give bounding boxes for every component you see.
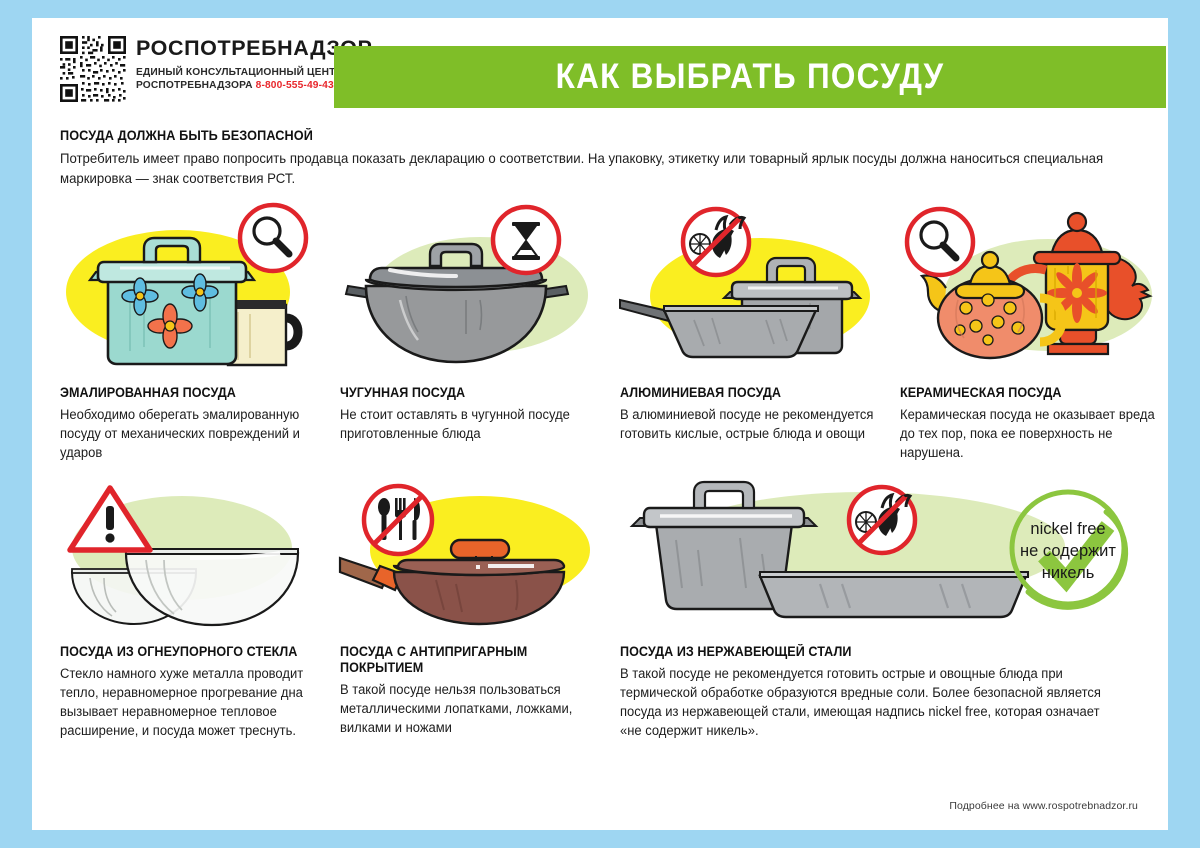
brand-block: РОСПОТРЕБНАДЗОР ЕДИНЫЙ КОНСУЛЬТАЦИОННЫЙ …	[60, 36, 372, 102]
no-spicy-food-icon	[683, 209, 749, 275]
cast-iron-illustration	[340, 200, 608, 375]
non-stick-illustration	[340, 480, 608, 630]
aluminium-illustration	[620, 200, 888, 375]
nickel-badge-line3: никель	[1042, 564, 1095, 582]
item-body: В такой посуде нельзя пользоваться метал…	[340, 680, 600, 737]
enamel-illustration	[60, 200, 328, 375]
item-title: ПОСУДА ИЗ НЕРЖАВЕЮЩЕЙ СТАЛИ	[620, 644, 1109, 660]
nickel-free-badge: nickel free не содержит никель	[1012, 492, 1126, 607]
footer-note: Подробнее на www.rospotrebnadzor.ru	[949, 800, 1138, 812]
item-body: В алюминиевой посуде не рекомендуется го…	[620, 405, 880, 443]
magnifier-icon	[240, 205, 306, 271]
enamel-mug	[228, 300, 298, 365]
item-body: Необходимо оберегать эмалированную посуд…	[60, 405, 320, 462]
qr-code-icon	[60, 36, 126, 102]
item-title: КЕРАМИЧЕСКАЯ ПОСУДА	[900, 385, 1152, 401]
item-title: ЧУГУННАЯ ПОСУДА	[340, 385, 592, 401]
item-aluminium: АЛЮМИНИЕВАЯ ПОСУДА В алюминиевой посуде …	[620, 200, 888, 443]
intro-body: Потребитель имеет право попросить продав…	[60, 149, 1117, 190]
glass-illustration	[60, 480, 328, 630]
no-cutlery-icon	[364, 486, 432, 554]
stainless-illustration: nickel free не содержит никель	[620, 480, 1168, 630]
items-row-2: ПОСУДА ИЗ ОГНЕУПОРНОГО СТЕКЛА Стекло нам…	[32, 480, 1168, 810]
hourglass-icon	[493, 207, 559, 273]
ceramic-illustration	[900, 200, 1168, 375]
nickel-badge-line1: nickel free	[1030, 520, 1105, 538]
header: РОСПОТРЕБНАДЗОР ЕДИНЫЙ КОНСУЛЬТАЦИОННЫЙ …	[32, 18, 1168, 110]
aluminium-pan	[620, 300, 818, 357]
item-body: В такой посуде не рекомендуется готовить…	[620, 664, 1124, 741]
item-stainless-steel: nickel free не содержит никель ПОСУДА ИЗ…	[620, 480, 1168, 740]
item-title: АЛЮМИНИЕВАЯ ПОСУДА	[620, 385, 872, 401]
intro-heading: ПОСУДА ДОЛЖНА БЫТЬ БЕЗОПАСНОЙ	[60, 128, 1085, 143]
brand-subtitle-line2: РОСПОТРЕБНАДЗОРА	[136, 80, 253, 91]
no-spicy-food-icon	[849, 487, 915, 553]
item-heatproof-glass: ПОСУДА ИЗ ОГНЕУПОРНОГО СТЕКЛА Стекло нам…	[60, 480, 328, 740]
infographic-page: РОСПОТРЕБНАДЗОР ЕДИНЫЙ КОНСУЛЬТАЦИОННЫЙ …	[32, 18, 1168, 830]
page-title: КАК ВЫБРАТЬ ПОСУДУ	[556, 57, 945, 97]
intro-block: ПОСУДА ДОЛЖНА БЫТЬ БЕЗОПАСНОЙ Потребител…	[60, 128, 1150, 190]
magnifier-icon	[907, 209, 973, 275]
stainless-pan	[760, 572, 1028, 617]
nickel-badge-line2: не содержит	[1020, 542, 1116, 560]
item-non-stick: ПОСУДА С АНТИПРИГАРНЫМ ПОКРЫТИЕМ В такой…	[340, 480, 608, 737]
items-row-1: ЭМАЛИРОВАННАЯ ПОСУДА Необходимо оберегат…	[32, 200, 1168, 492]
item-body: Керамическая посуда не оказывает вреда д…	[900, 405, 1160, 462]
item-title: ПОСУДА С АНТИПРИГАРНЫМ ПОКРЫТИЕМ	[340, 644, 592, 676]
item-ceramic: КЕРАМИЧЕСКАЯ ПОСУДА Керамическая посуда …	[900, 200, 1168, 462]
title-banner: КАК ВЫБРАТЬ ПОСУДУ	[334, 46, 1166, 108]
item-enamel: ЭМАЛИРОВАННАЯ ПОСУДА Необходимо оберегат…	[60, 200, 328, 462]
hotline-phone: 8-800-555-49-43	[256, 80, 334, 91]
item-body: Стекло намного хуже металла проводит теп…	[60, 664, 320, 741]
item-title: ЭМАЛИРОВАННАЯ ПОСУДА	[60, 385, 312, 401]
item-body: Не стоит оставлять в чугунной посуде при…	[340, 405, 600, 443]
item-cast-iron: ЧУГУННАЯ ПОСУДА Не стоит оставлять в чуг…	[340, 200, 608, 443]
item-title: ПОСУДА ИЗ ОГНЕУПОРНОГО СТЕКЛА	[60, 644, 312, 660]
brand-subtitle-line1: ЕДИНЫЙ КОНСУЛЬТАЦИОННЫЙ ЦЕНТР	[136, 67, 342, 78]
